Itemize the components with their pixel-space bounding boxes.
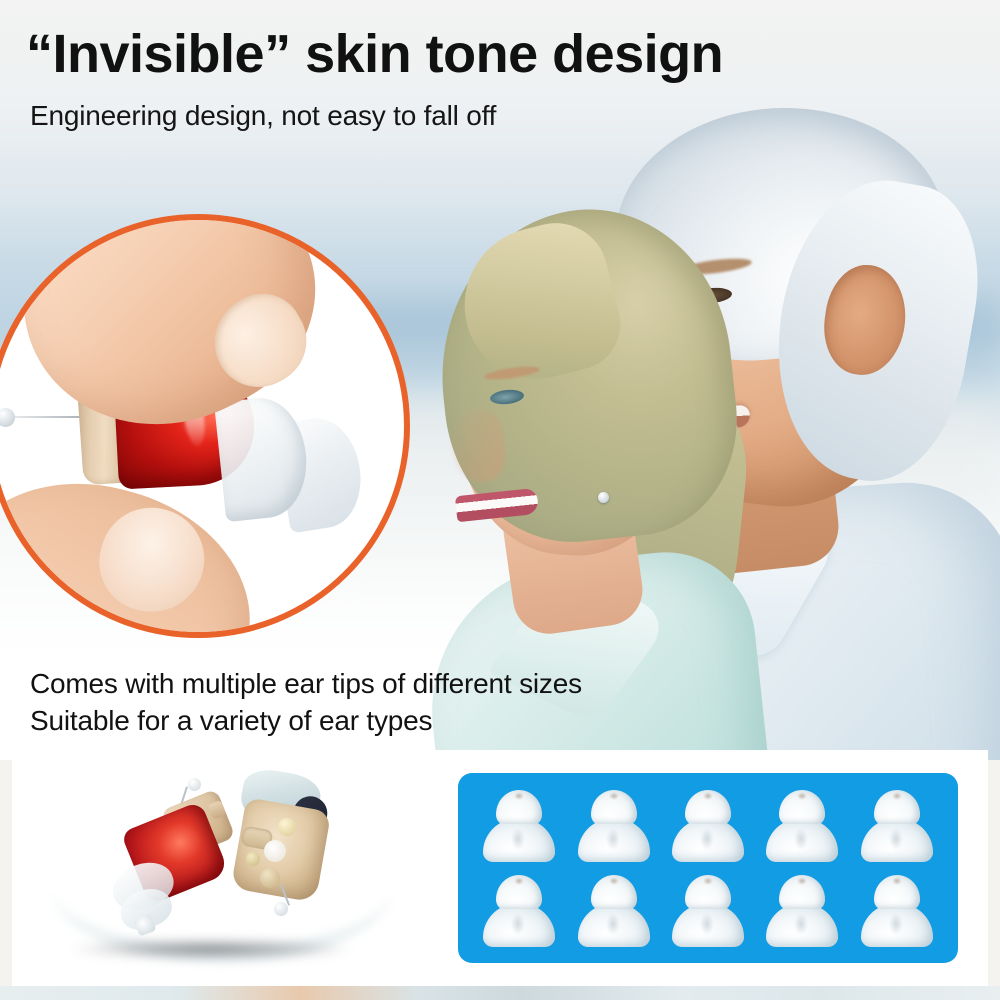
ear-tip-upper-dome [779,875,825,909]
circle-inset-stage [0,220,404,632]
senior-couple [380,60,1000,760]
ear-tip-lower-dome [766,818,838,862]
beige-unit-port [264,840,286,862]
ear-tip-panel [458,773,958,963]
page-subtitle: Engineering design, not easy to fall off [30,100,496,132]
ear-tip-upper-dome [779,790,825,824]
ear-tip-lower-dome [578,818,650,862]
ear-tip-item [858,790,936,862]
ear-tip-item [669,790,747,862]
woman-earring [598,492,609,503]
circle-inset-product-closeup [0,214,410,638]
ear-tip-upper-dome [874,875,920,909]
ear-tip-lower-dome [483,903,555,947]
beige-unit-indicator-a [278,818,296,836]
ear-tip-lower-dome [766,903,838,947]
ear-tip-lower-dome [861,818,933,862]
caption-line-1: Comes with multiple ear tips of differen… [30,668,582,700]
ear-tip-item [575,790,653,862]
removal-wire-bead [0,408,15,427]
ear-tip-upper-dome [685,790,731,824]
ear-tip-item [763,790,841,862]
woman-nose [448,407,507,484]
ear-tip-item [669,875,747,947]
beige-unit-indicator-c [260,868,280,888]
product-marketing-page: “Invisible” skin tone design Engineering… [0,0,1000,1000]
beige-unit-indicator-b [246,852,260,866]
bottom-panel [12,750,988,986]
ear-tip-item [575,875,653,947]
red-unit-wire-bead [188,778,201,791]
ear-tip-item [480,790,558,862]
ear-tip-upper-dome [496,875,542,909]
ear-tip-item [763,875,841,947]
ear-tip-upper-dome [685,875,731,909]
ear-tip-item [858,875,936,947]
caption-line-2: Suitable for a variety of ear types [30,705,432,737]
beige-unit-wire-bead [274,902,288,916]
ear-tip-upper-dome [874,790,920,824]
product-photo-two-units [42,756,442,982]
page-title: “Invisible” skin tone design [26,26,723,83]
ear-tip-item [480,875,558,947]
ear-tip-upper-dome [591,875,637,909]
ear-tip-upper-dome [591,790,637,824]
ear-tip-lower-dome [672,903,744,947]
next-section-peek [0,986,1000,1000]
ear-tip-lower-dome [483,818,555,862]
ear-tip-lower-dome [578,903,650,947]
ear-tip-lower-dome [861,903,933,947]
ear-tip-upper-dome [496,790,542,824]
product-shadow [66,938,356,960]
ear-tip-lower-dome [672,818,744,862]
